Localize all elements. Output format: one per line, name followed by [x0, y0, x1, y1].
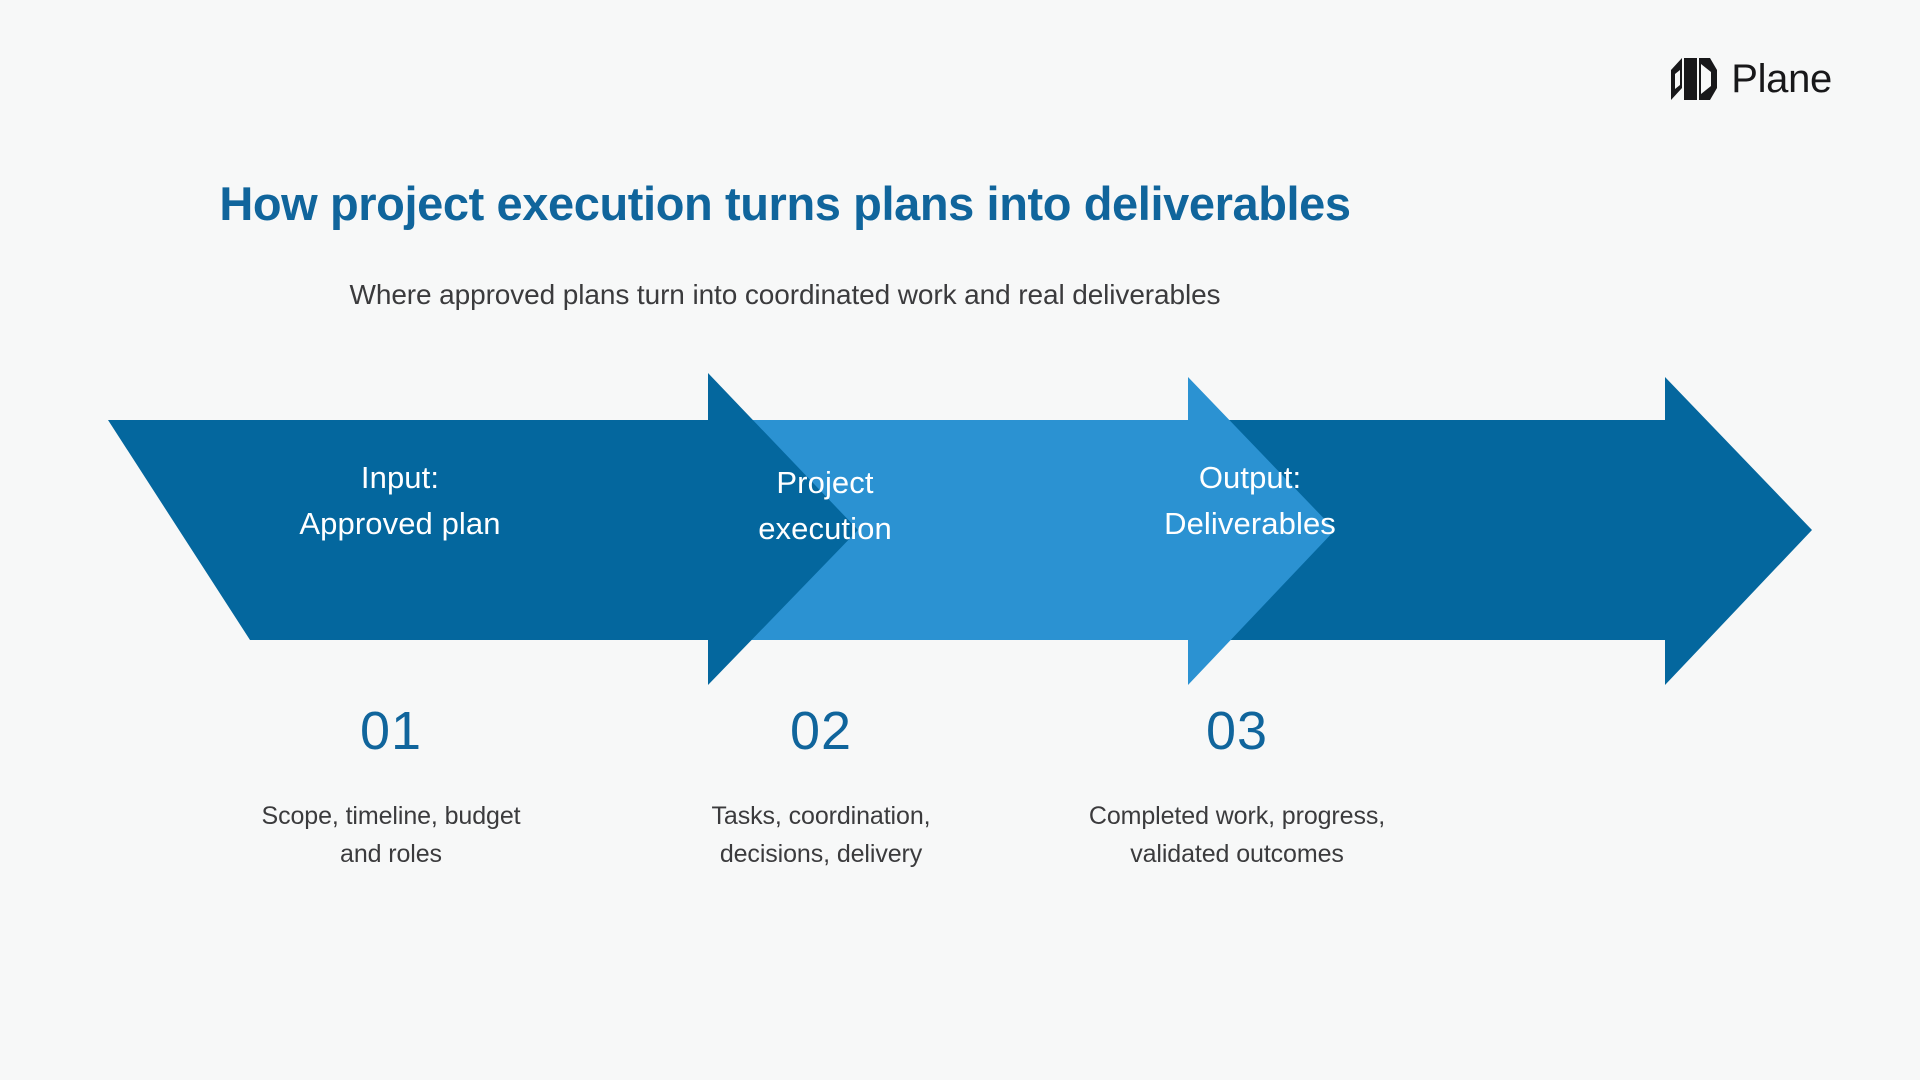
stage-label-3-line1: Output:: [1090, 455, 1410, 501]
stage-label-3: Output: Deliverables: [1090, 455, 1410, 547]
page-title: How project execution turns plans into d…: [0, 178, 1570, 231]
step-desc-1-line2: and roles: [226, 836, 556, 874]
step-desc-2-line1: Tasks, coordination,: [656, 798, 986, 836]
step-desc-3: Completed work, progress, validated outc…: [1072, 798, 1402, 873]
step-block-2: 02 Tasks, coordination, decisions, deliv…: [656, 700, 986, 873]
stage-label-1: Input: Approved plan: [240, 455, 560, 547]
step-desc-1-line1: Scope, timeline, budget: [226, 798, 556, 836]
stage-label-2-line1: Project: [700, 460, 950, 506]
stage-label-1-line2: Approved plan: [240, 501, 560, 547]
plane-logo-icon: [1671, 58, 1717, 100]
brand-logo: Plane: [1671, 58, 1832, 100]
stage-label-2: Project execution: [700, 460, 950, 552]
step-block-3: 03 Completed work, progress, validated o…: [1072, 700, 1402, 873]
step-number-1: 01: [226, 700, 556, 762]
step-number-2: 02: [656, 700, 986, 762]
step-desc-1: Scope, timeline, budget and roles: [226, 798, 556, 873]
step-number-3: 03: [1072, 700, 1402, 762]
step-desc-3-line1: Completed work, progress,: [1072, 798, 1402, 836]
step-block-1: 01 Scope, timeline, budget and roles: [226, 700, 556, 873]
step-desc-2: Tasks, coordination, decisions, delivery: [656, 798, 986, 873]
stage-label-1-line1: Input:: [240, 455, 560, 501]
brand-name: Plane: [1731, 59, 1832, 99]
stage-label-3-line2: Deliverables: [1090, 501, 1410, 547]
step-desc-2-line2: decisions, delivery: [656, 836, 986, 874]
step-desc-3-line2: validated outcomes: [1072, 836, 1402, 874]
page-subtitle: Where approved plans turn into coordinat…: [0, 278, 1570, 312]
stage-label-2-line2: execution: [700, 506, 950, 552]
